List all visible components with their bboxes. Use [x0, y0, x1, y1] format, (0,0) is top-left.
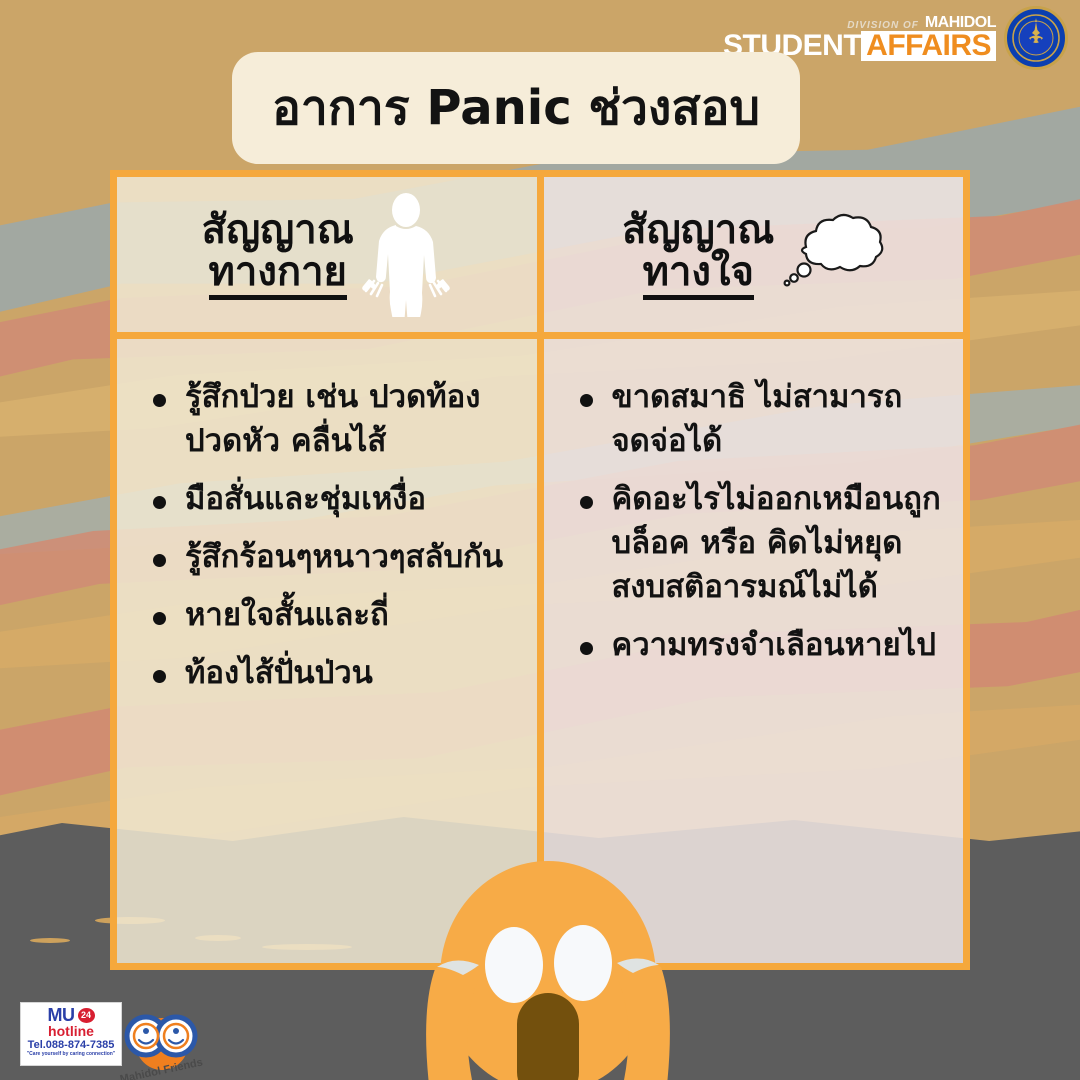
affairs-label: AFFAIRS: [861, 31, 996, 61]
list-item: ท้องไส้ปั่นป่วน: [151, 651, 519, 695]
phone-24-badge-icon: 24: [78, 1008, 95, 1023]
list-item: ความทรงจำเลือนหายไป: [578, 623, 946, 667]
hotline-tagline: "Care yourself by caring connection": [24, 1052, 118, 1057]
body-silhouette-icon: [360, 193, 452, 317]
list-item: รู้สึกป่วย เช่น ปวดท้อง ปวดหัว คลื่นไส้: [151, 375, 519, 463]
hotline-label: hotline: [24, 1024, 118, 1038]
list-item: คิดอะไรไม่ออกเหมือนถูกบล็อค หรือ คิดไม่ห…: [578, 477, 946, 609]
list-item: มือสั่นและชุ่มเหงื่อ: [151, 477, 519, 521]
mu-hotline-logo: MU 24 hotline Tel.088-874-7385 "Care you…: [20, 1002, 122, 1066]
thought-bubble-icon: [780, 207, 884, 303]
list-item: ขาดสมาธิ ไม่สามารถจดจ่อได้: [578, 375, 946, 463]
header-line1-mental: สัญญาณ: [622, 209, 774, 251]
header-inner-mental: สัญญาณ ทางใจ: [544, 177, 964, 332]
header-words-physical: สัญญาณ ทางกาย: [202, 209, 354, 300]
mu-logo-top-row: MU 24: [24, 1005, 118, 1025]
screaming-face-emoji: [413, 845, 683, 1080]
header-words-mental: สัญญาณ ทางใจ: [622, 209, 774, 300]
mahidol-friends-logo: Mahidol Friends: [112, 1000, 212, 1080]
page-title: อาการ Panic ช่วงสอบ: [272, 70, 760, 146]
header-line1-physical: สัญญาณ: [202, 209, 354, 251]
list-item: หายใจสั้นและถี่: [151, 593, 519, 637]
header-line2-mental: ทางใจ: [643, 251, 754, 300]
physical-symptom-list: รู้สึกป่วย เช่น ปวดท้อง ปวดหัว คลื่นไส้ …: [117, 339, 537, 695]
mu-label: MU: [48, 1006, 75, 1024]
header-inner-physical: สัญญาณ ทางกาย: [117, 177, 537, 332]
background-flick-4: [30, 938, 70, 943]
header-line2-physical: ทางกาย: [209, 251, 347, 300]
table-header-physical: สัญญาณ ทางกาย: [117, 177, 537, 332]
list-item: รู้สึกร้อนๆหนาวๆสลับกัน: [151, 535, 519, 579]
mahidol-university-emblem: [1004, 6, 1068, 70]
infographic-canvas: DIVISION OF MAHIDOL STUDENT AFFAIRS อากา…: [0, 0, 1080, 1080]
division-of-label: DIVISION OF: [847, 21, 919, 31]
emblem-crest-icon: [1012, 14, 1060, 62]
table-header-mental: สัญญาณ ทางใจ: [537, 177, 964, 332]
title-pill: อาการ Panic ช่วงสอบ: [232, 52, 800, 164]
mental-symptom-list: ขาดสมาธิ ไม่สามารถจดจ่อได้ คิดอะไรไม่ออก…: [544, 339, 964, 667]
hotline-phone-number: Tel.088-874-7385: [24, 1039, 118, 1051]
table-header-row: สัญญาณ ทางกาย: [117, 177, 963, 339]
